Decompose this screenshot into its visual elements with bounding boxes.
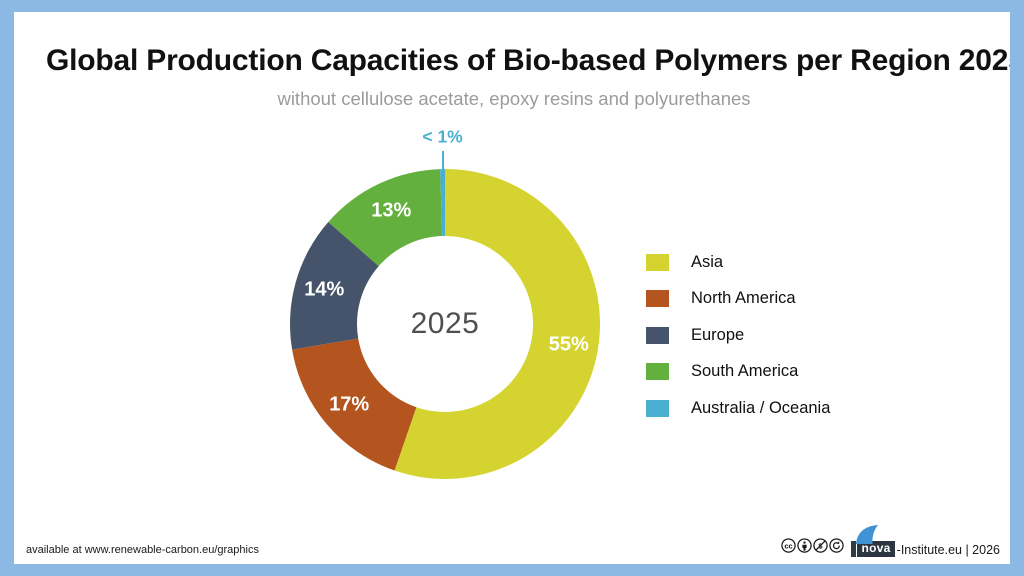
footer-availability: available at www.renewable-carbon.eu/gra… xyxy=(26,544,259,556)
legend-item-north-america[interactable]: North America xyxy=(646,281,830,318)
poster-canvas: Global Production Capacities of Bio-base… xyxy=(14,12,1010,564)
legend-item-south-america[interactable]: South America xyxy=(646,354,830,391)
poster-frame: Global Production Capacities of Bio-base… xyxy=(0,0,1024,576)
cc-by-icon xyxy=(797,538,812,553)
legend-swatch xyxy=(646,290,669,307)
creative-commons-icons: cc $ xyxy=(781,538,844,553)
legend-label: Asia xyxy=(691,253,723,272)
slice-label-europe: 14% xyxy=(304,278,344,301)
legend-item-europe[interactable]: Europe xyxy=(646,317,830,354)
donut-center-label: 2025 xyxy=(280,159,610,489)
legend-swatch xyxy=(646,327,669,344)
slice-label-north-america: 17% xyxy=(329,394,369,417)
legend-label: Australia / Oceania xyxy=(691,399,830,418)
callout-leader-line xyxy=(442,151,444,169)
nova-flag-icon xyxy=(854,525,880,545)
legend-item-asia[interactable]: Asia xyxy=(646,244,830,281)
footer-credit: cc $ xyxy=(781,533,1000,557)
legend-swatch xyxy=(646,363,669,380)
donut-chart: 2025 55%17%14%13% < 1% AsiaNorth America… xyxy=(14,12,1010,564)
cc-icon: cc xyxy=(781,538,796,553)
legend-label: South America xyxy=(691,362,798,381)
chart-legend: AsiaNorth AmericaEuropeSouth AmericaAust… xyxy=(646,244,830,427)
cc-sa-icon xyxy=(829,538,844,553)
svg-text:cc: cc xyxy=(785,541,793,550)
nova-logo: nova -Institute.eu | 2026 xyxy=(851,533,1000,557)
legend-label: Europe xyxy=(691,326,744,345)
slice-label-asia: 55% xyxy=(549,333,589,356)
slice-label-south-america: 13% xyxy=(371,199,411,222)
legend-swatch xyxy=(646,400,669,417)
legend-swatch xyxy=(646,254,669,271)
legend-item-australia-oceania[interactable]: Australia / Oceania xyxy=(646,390,830,427)
legend-label: North America xyxy=(691,289,796,308)
donut-graphic: 2025 xyxy=(280,159,610,489)
cc-nc-icon: $ xyxy=(813,538,828,553)
nova-credit-text: -Institute.eu | 2026 xyxy=(897,543,1000,557)
slice-label-australia-oceania: < 1% xyxy=(422,127,462,148)
